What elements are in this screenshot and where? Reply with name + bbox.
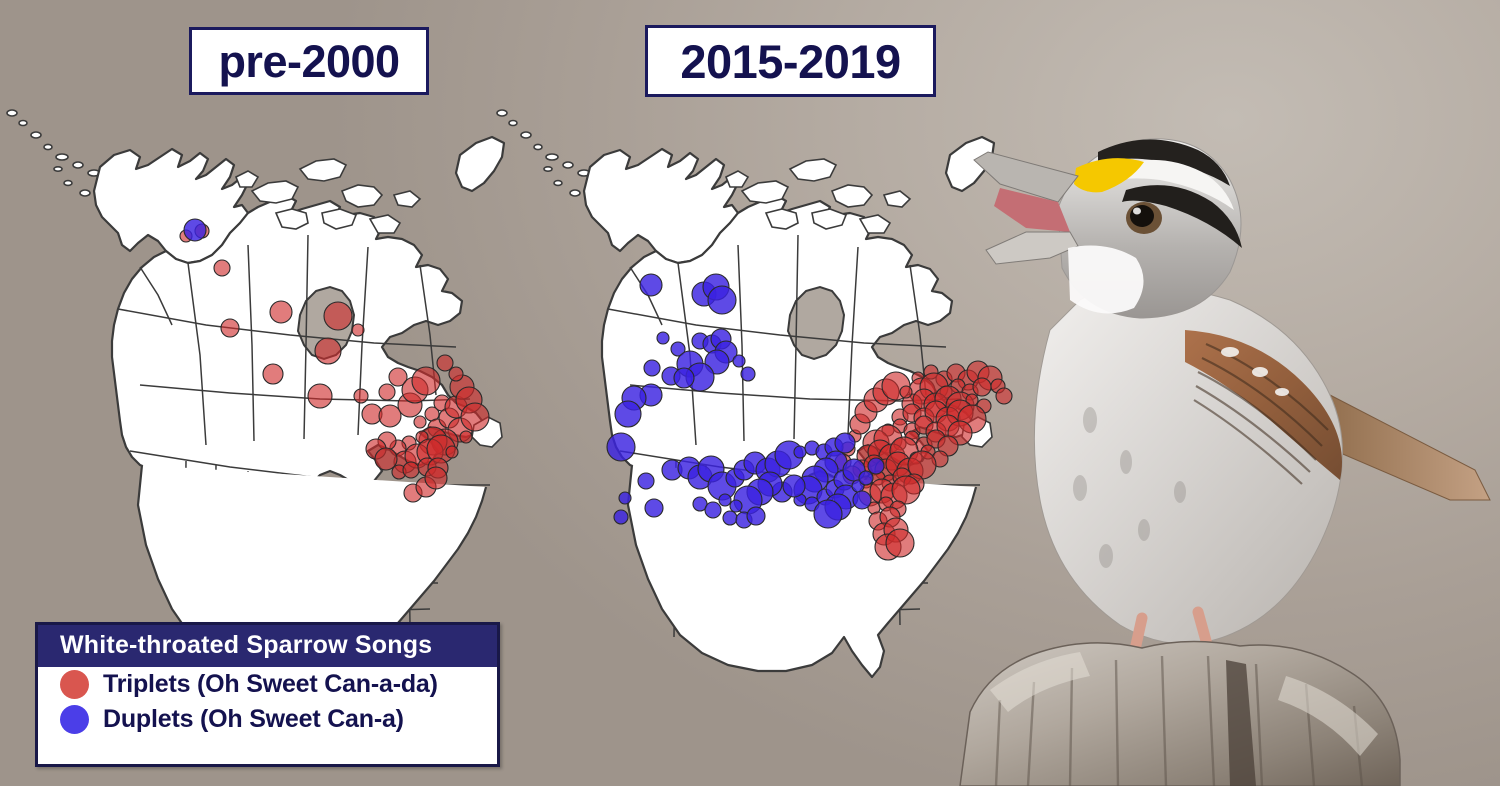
duplet-data-point — [614, 510, 628, 524]
triplet-data-point — [263, 364, 283, 384]
triplet-data-point — [446, 446, 458, 458]
duplet-data-point — [741, 367, 755, 381]
duplet-data-point — [783, 475, 805, 497]
triplet-data-point — [315, 338, 341, 364]
triplet-data-point — [352, 324, 364, 336]
duplet-data-point — [619, 492, 631, 504]
duplet-data-point — [794, 446, 806, 458]
duplet-data-point — [638, 473, 654, 489]
triplet-data-point — [221, 319, 239, 337]
triplet-data-point — [270, 301, 292, 323]
triplet-data-point — [375, 448, 397, 470]
eye-highlight — [1133, 208, 1141, 215]
duplet-data-point — [640, 274, 662, 296]
duplet-data-point — [723, 511, 737, 525]
sparrow-photograph — [930, 0, 1500, 786]
duplet-data-point — [835, 433, 855, 453]
duplet-data-point — [615, 401, 641, 427]
duplet-data-point — [814, 500, 842, 528]
triplet-data-point — [886, 529, 914, 557]
triplet-data-point — [354, 389, 368, 403]
triplet-data-point — [403, 462, 419, 478]
legend-title: White-throated Sparrow Songs — [38, 625, 497, 667]
map-panel-pre-2000 — [0, 95, 510, 605]
duplet-data-point — [674, 368, 694, 388]
triplet-data-point — [379, 405, 401, 427]
triplet-data-point — [414, 416, 426, 428]
bird-pupil — [1130, 205, 1154, 227]
triplet-data-point — [308, 384, 332, 408]
duplet-data-point — [184, 219, 206, 241]
triplet-data-point — [900, 386, 912, 398]
legend-label-duplets: Duplets (Oh Sweet Can-a) — [103, 705, 404, 734]
duplet-data-point — [747, 507, 765, 525]
triplet-swatch-icon — [60, 670, 89, 699]
triplet-data-point — [379, 384, 395, 400]
legend-box: White-throated Sparrow Songs Triplets (O… — [35, 622, 500, 767]
duplet-data-point — [853, 491, 871, 509]
triplet-data-point — [425, 467, 447, 489]
duplet-swatch-icon — [60, 705, 89, 734]
panel-title-pre-2000: pre-2000 — [189, 27, 429, 95]
duplet-data-point — [645, 499, 663, 517]
duplet-data-point — [719, 494, 731, 506]
legend-item-triplets: Triplets (Oh Sweet Can-a-da) — [38, 667, 497, 702]
triplet-data-point — [460, 431, 472, 443]
duplet-data-point — [730, 500, 742, 512]
map-panel-2015-2019 — [480, 95, 1000, 605]
duplet-data-point — [868, 458, 884, 474]
triplet-data-point — [892, 476, 920, 504]
duplet-data-point — [733, 355, 745, 367]
triplet-data-point — [324, 302, 352, 330]
figure-canvas: pre-2000 2015-2019 — [0, 0, 1500, 786]
legend-item-duplets: Duplets (Oh Sweet Can-a) — [38, 702, 497, 737]
triplet-data-point — [437, 355, 453, 371]
triplet-data-point — [412, 367, 440, 395]
duplet-data-point — [859, 471, 873, 485]
duplet-data-point — [607, 433, 635, 461]
triplet-data-point — [214, 260, 230, 276]
panel-title-2015-2019: 2015-2019 — [645, 25, 936, 97]
triplet-data-point — [449, 367, 463, 381]
legend-label-triplets: Triplets (Oh Sweet Can-a-da) — [103, 670, 438, 699]
duplet-data-point — [708, 286, 736, 314]
duplet-data-point — [657, 332, 669, 344]
duplet-data-point — [705, 502, 721, 518]
duplet-data-point — [644, 360, 660, 376]
